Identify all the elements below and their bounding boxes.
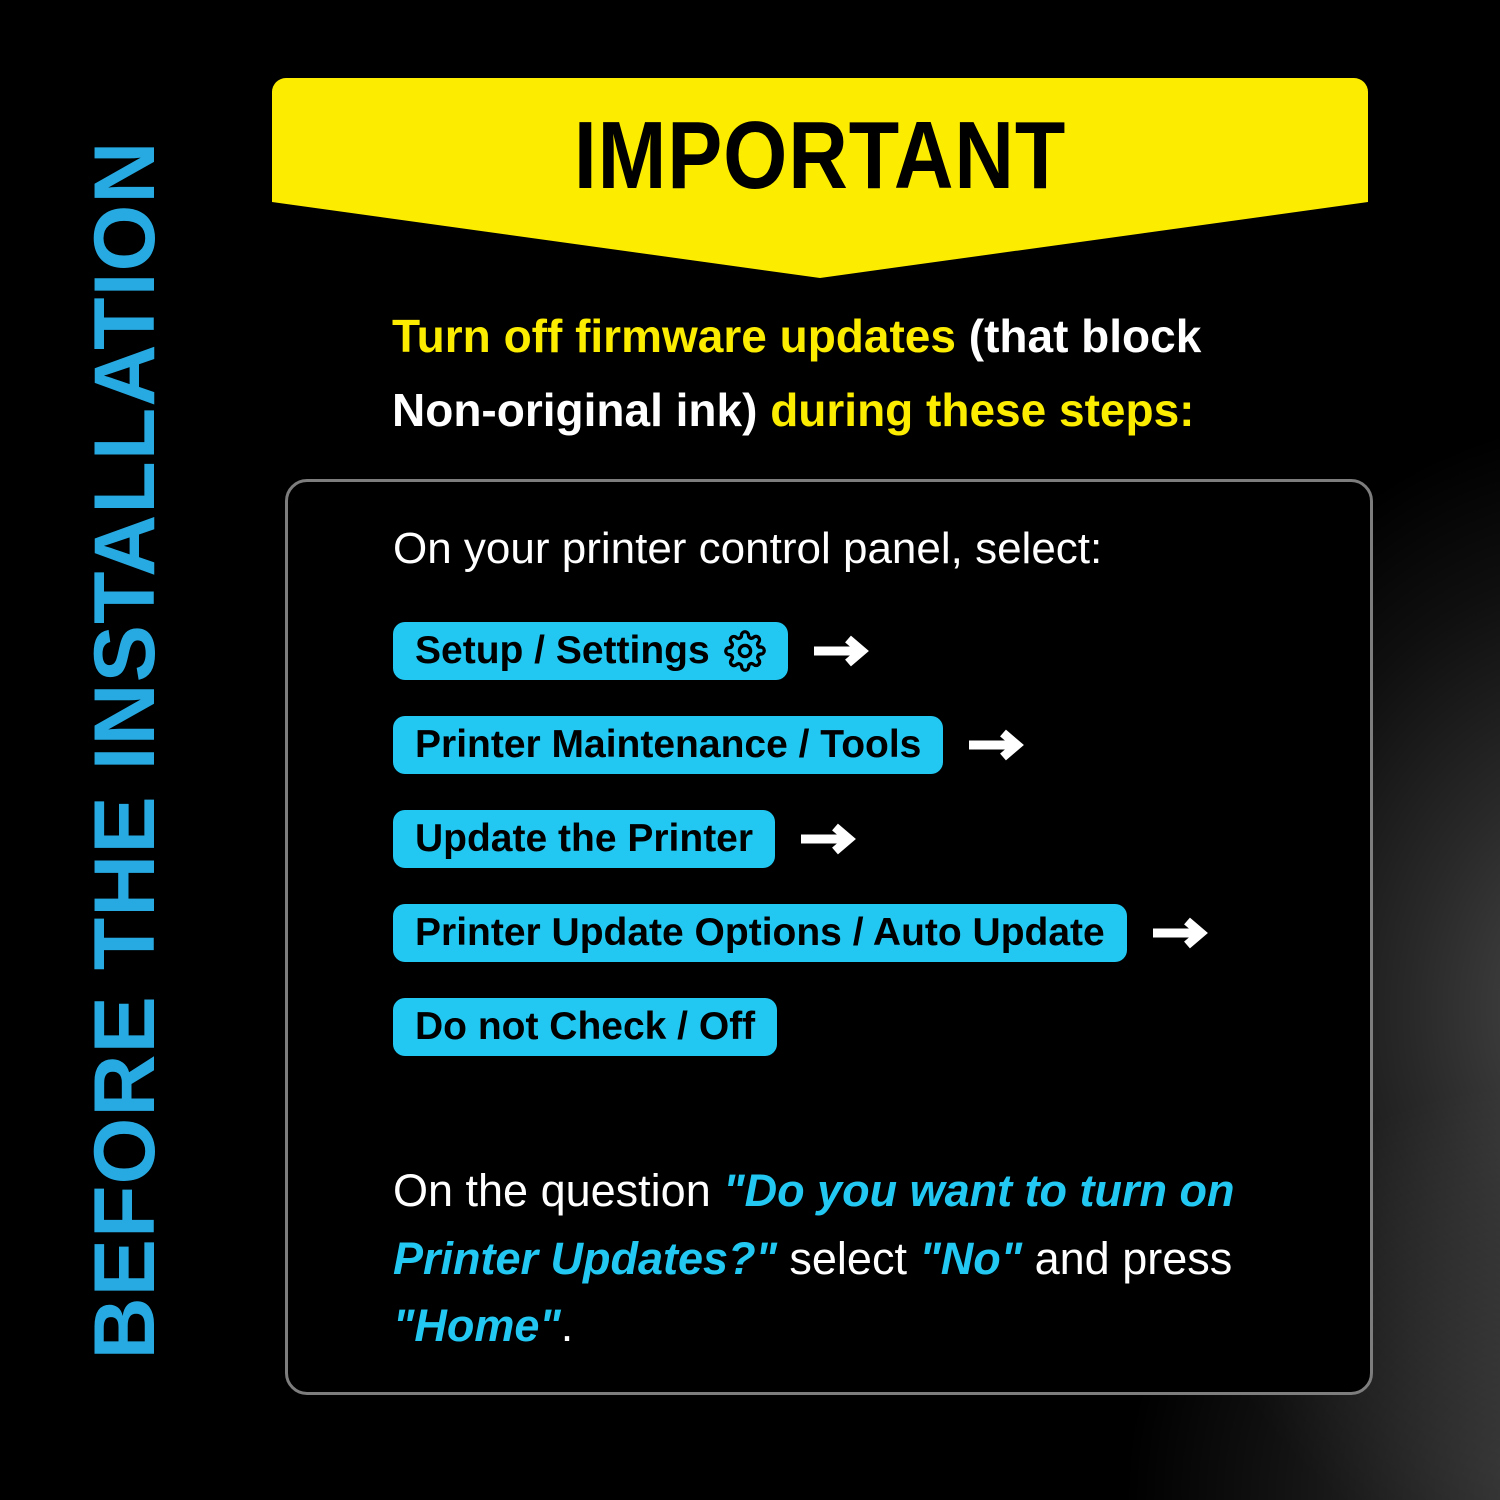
step-row: Do not Check / Off: [393, 998, 1333, 1056]
closing-text-2: select: [777, 1233, 920, 1284]
step-chip-label: Update the Printer: [415, 819, 753, 858]
arrow-right-icon: [967, 728, 1029, 762]
closing-quote-home: "Home": [393, 1300, 561, 1351]
arrow-right-icon: [799, 822, 861, 856]
closing-paragraph: On the question "Do you want to turn on …: [393, 1157, 1283, 1360]
important-banner: IMPORTANT: [272, 78, 1368, 278]
steps-list: Setup / Settings Printer M: [393, 622, 1333, 1092]
step-chip-label: Do not Check / Off: [415, 1007, 755, 1046]
closing-quote-no: "No": [919, 1233, 1022, 1284]
closing-text-1: On the question: [393, 1165, 723, 1216]
side-title: BEFORE THE INSTALLATION: [82, 141, 168, 1360]
step-chip-printer-maintenance-tools[interactable]: Printer Maintenance / Tools: [393, 716, 943, 774]
step-row: Update the Printer: [393, 810, 1333, 868]
poster-canvas: BEFORE THE INSTALLATION IMPORTANT Turn o…: [0, 0, 1500, 1500]
gear-icon: [724, 630, 766, 672]
step-chip-label: Setup / Settings: [415, 631, 710, 670]
instruction-panel: On your printer control panel, select: S…: [285, 479, 1373, 1395]
step-row: Printer Update Options / Auto Update: [393, 904, 1333, 962]
step-chip-label: Printer Maintenance / Tools: [415, 725, 921, 764]
step-row: Setup / Settings: [393, 622, 1333, 680]
banner-title: IMPORTANT: [349, 106, 1292, 207]
step-chip-printer-update-options-auto-update[interactable]: Printer Update Options / Auto Update: [393, 904, 1127, 962]
closing-text-4: .: [561, 1300, 574, 1351]
step-chip-setup-settings[interactable]: Setup / Settings: [393, 622, 788, 680]
panel-lead-text: On your printer control panel, select:: [393, 524, 1102, 574]
arrow-right-icon: [812, 634, 874, 668]
step-chip-do-not-check-off[interactable]: Do not Check / Off: [393, 998, 777, 1056]
step-chip-update-the-printer[interactable]: Update the Printer: [393, 810, 775, 868]
headline-part-3: during these steps:: [757, 384, 1194, 436]
arrow-right-icon: [1151, 916, 1213, 950]
closing-text-3: and press: [1022, 1233, 1232, 1284]
headline: Turn off firmware updates (that block No…: [392, 300, 1252, 447]
headline-part-1: Turn off firmware updates: [392, 310, 969, 362]
step-row: Printer Maintenance / Tools: [393, 716, 1333, 774]
step-chip-label: Printer Update Options / Auto Update: [415, 913, 1105, 952]
side-title-container: BEFORE THE INSTALLATION: [0, 0, 250, 1500]
